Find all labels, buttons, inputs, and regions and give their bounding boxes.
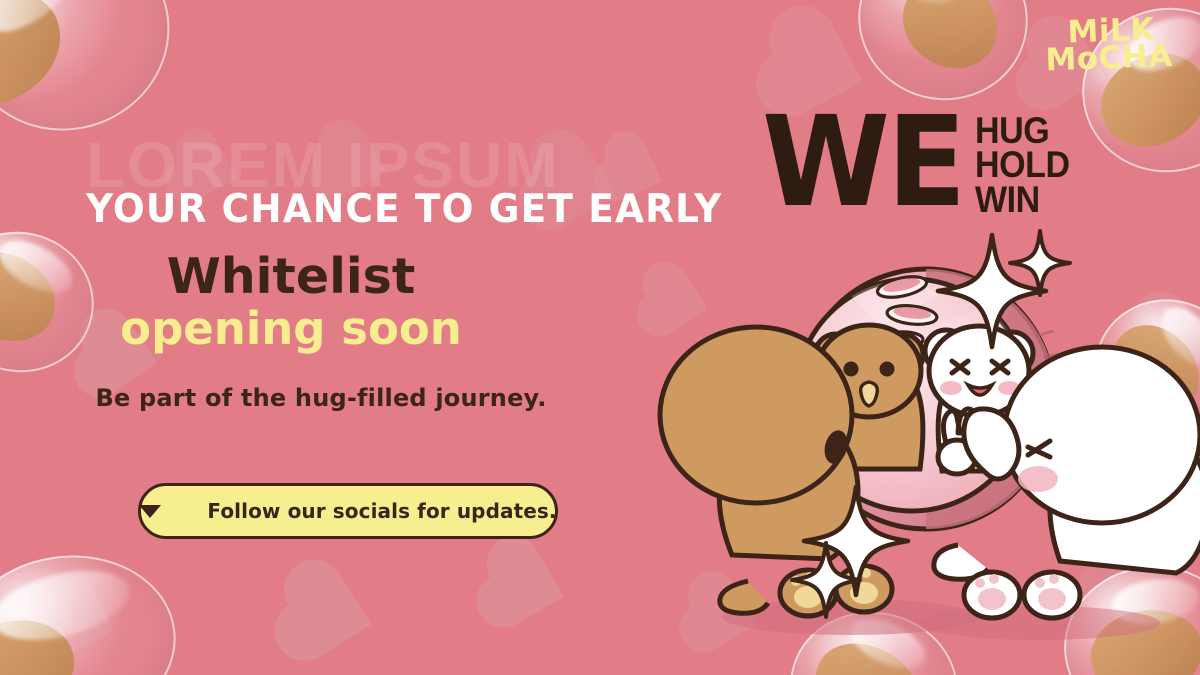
decor-heart <box>52 590 115 653</box>
bears-illustration <box>640 225 1200 675</box>
follow-socials-label: Follow our socials for updates. <box>207 499 556 523</box>
eyebrow-text: YOUR CHANCE TO GET EARLY <box>86 190 624 229</box>
bears-svg <box>640 225 1200 675</box>
logo-line-2: MoCHA <box>1045 43 1173 75</box>
headline-primary: Whitelist <box>86 251 496 302</box>
promo-banner: LOREM IPSUM MiLK MoCHA WE HUG HOLD WIN <box>0 0 1200 675</box>
decor-heart <box>490 550 564 624</box>
slogan-block: WE HUG HOLD WIN <box>762 108 1078 217</box>
brand-logo: MiLK MoCHA <box>1050 16 1173 75</box>
bear-foot <box>1024 572 1080 618</box>
slogan-stack: HUG HOLD WIN <box>975 114 1070 217</box>
follow-socials-button[interactable]: Follow our socials for updates. <box>138 483 558 539</box>
subline-text: Be part of the hug-filled journey. <box>86 384 556 412</box>
slogan-line-win: WIN <box>975 183 1070 217</box>
bear-foot <box>836 566 892 612</box>
copy-block: YOUR CHANCE TO GET EARLY Whitelist openi… <box>86 190 646 412</box>
bear-foot <box>964 572 1020 618</box>
decor-heart <box>289 574 372 657</box>
slogan-we: WE <box>762 108 963 218</box>
slogan-line-hug: HUG <box>975 114 1070 148</box>
glass-bubble <box>0 542 187 675</box>
caret-down-icon <box>139 505 161 518</box>
headline-secondary: opening soon <box>86 304 496 354</box>
slogan-line-hold: HOLD <box>975 148 1070 182</box>
